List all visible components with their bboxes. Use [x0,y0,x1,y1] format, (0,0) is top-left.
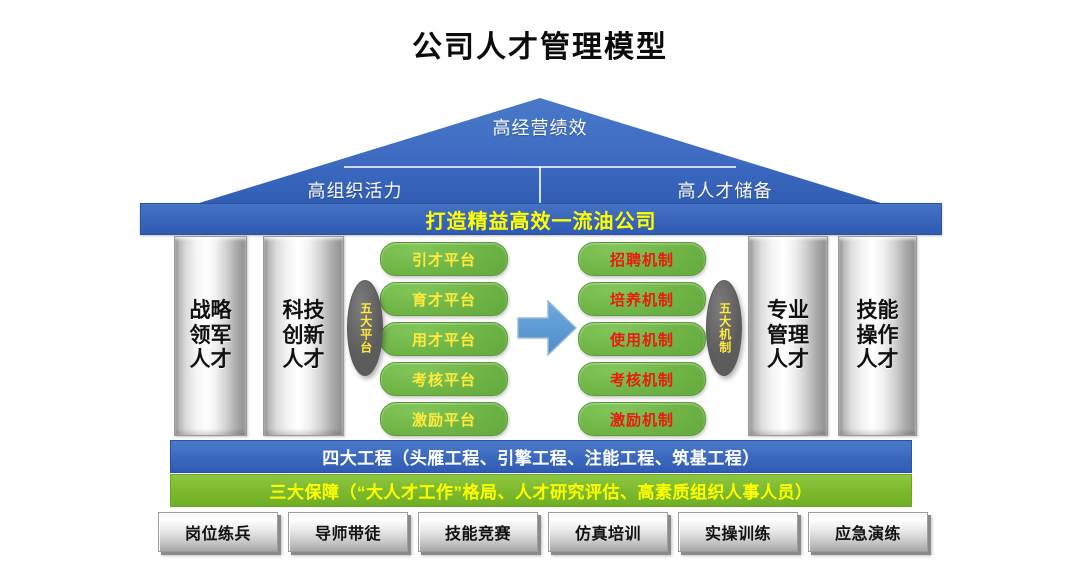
pillar-label: 战略领军人才 [185,299,235,373]
pillar-strategic-leader: 战略领军人才 [174,236,247,436]
base-block-post-drill[interactable]: 岗位练兵 [158,512,278,552]
platform-pill-cultivate[interactable]: 育才平台 [380,282,508,316]
pillar-label: 技能操作人才 [852,299,902,373]
mechanism-pill-train[interactable]: 培养机制 [578,282,706,316]
platform-pill-incentive[interactable]: 激励平台 [380,402,508,436]
mechanism-pill-deploy[interactable]: 使用机制 [578,322,706,356]
badge-label: 五大平台 [358,302,371,354]
page-title: 公司人才管理模型 [0,22,1080,66]
pillar-label: 专业管理人才 [763,299,813,373]
mechanism-pill-recruit[interactable]: 招聘机制 [578,242,706,276]
badge-five-platforms: 五大平台 [347,280,383,376]
foundation-bar-projects: 四大工程（头雁工程、引擎工程、注能工程、筑基工程） [170,440,912,473]
mechanism-pill-incentive[interactable]: 激励机制 [578,402,706,436]
mechanism-pill-column: 招聘机制 培养机制 使用机制 考核机制 激励机制 [578,242,706,442]
platform-pill-utilize[interactable]: 用才平台 [380,322,508,356]
flow-arrow-icon [516,298,578,363]
base-block-practical[interactable]: 实操训练 [678,512,798,552]
base-block-simulation[interactable]: 仿真培训 [548,512,668,552]
pillar-label: 科技创新人才 [278,299,328,373]
diagram-canvas: 公司人才管理模型 高经营绩效 高组织活力 高人才储备 打造精益高效一流油公司 战… [0,0,1080,576]
platform-pill-column: 引才平台 育才平台 用才平台 考核平台 激励平台 [380,242,508,442]
base-block-mentorship[interactable]: 导师带徒 [288,512,408,552]
roof-group: 高经营绩效 高组织活力 高人才储备 [170,98,910,216]
badge-five-mechanisms: 五大机制 [706,280,742,376]
mechanism-pill-assess[interactable]: 考核机制 [578,362,706,396]
pillar-skilled-operation: 技能操作人才 [838,236,917,436]
roof-top-label: 高经营绩效 [170,114,910,140]
base-block-skill-competition[interactable]: 技能竞赛 [418,512,538,552]
vision-bar: 打造精益高效一流油公司 [140,203,942,235]
pillar-tech-innovation: 科技创新人才 [263,236,344,436]
platform-pill-attract[interactable]: 引才平台 [380,242,508,276]
base-block-row: 岗位练兵 导师带徒 技能竞赛 仿真培训 实操训练 应急演练 [150,512,930,552]
platform-pill-assess[interactable]: 考核平台 [380,362,508,396]
pillar-professional-management: 专业管理人才 [748,236,828,436]
foundation-bar-guarantees: 三大保障（“大人才工作”格局、人才研究评估、高素质组织人事人员） [170,474,912,507]
badge-label: 五大机制 [717,302,730,354]
base-block-emergency-drill[interactable]: 应急演练 [808,512,928,552]
